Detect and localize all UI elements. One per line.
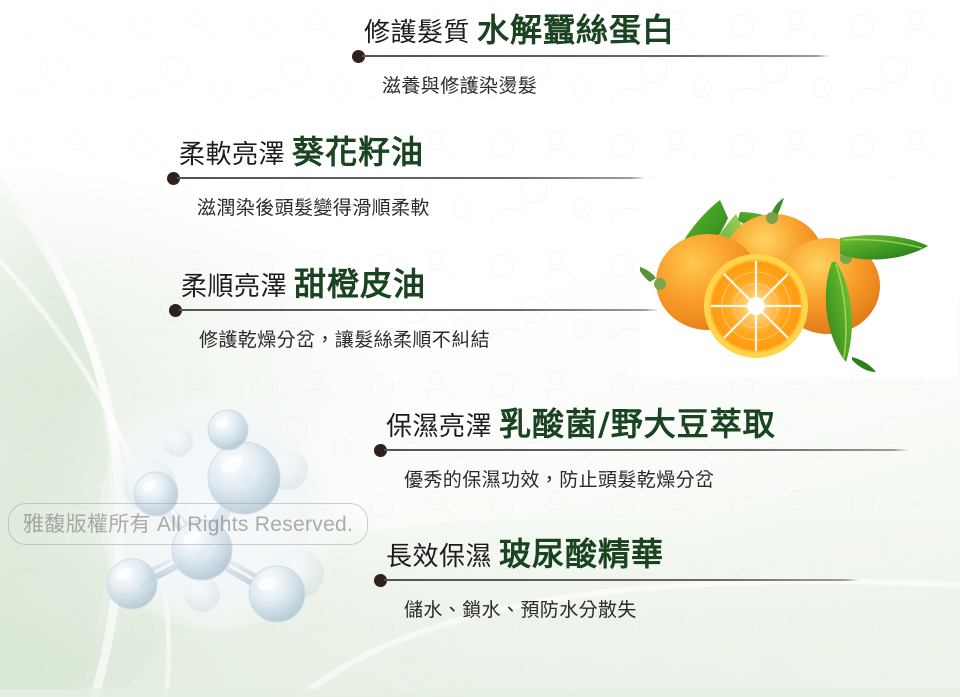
divider-line [384, 579, 859, 581]
feature-item: 柔軟亮澤葵花籽油 滋潤染後頭髮變得滑順柔軟 [167, 136, 727, 220]
feature-lead: 柔順亮澤 [181, 272, 287, 302]
feature-name: 玻尿酸精華 [499, 535, 664, 573]
copyright-watermark: 雅馥版權所有 All Rights Reserved. [8, 503, 368, 545]
feature-rule [169, 302, 729, 318]
feature-lead: 長效保濕 [386, 542, 492, 572]
feature-rule [352, 48, 912, 64]
feature-name: 葵花籽油 [292, 133, 424, 171]
feature-name: 水解蠶絲蛋白 [477, 11, 675, 49]
feature-headline: 修護髮質水解蠶絲蛋白 [364, 14, 912, 48]
feature-lead: 保濕亮澤 [386, 412, 492, 442]
feature-name: 甜橙皮油 [294, 265, 426, 303]
feature-description: 滋養與修護染燙髮 [382, 71, 912, 98]
feature-rule [374, 572, 934, 588]
feature-item: 保濕亮澤乳酸菌/野大豆萃取 優秀的保濕功效，防止頭髮乾燥分岔 [374, 408, 934, 492]
feature-item: 修護髮質水解蠶絲蛋白 滋養與修護染燙髮 [352, 14, 912, 98]
feature-lead: 柔軟亮澤 [179, 140, 285, 170]
feature-headline: 柔順亮澤甜橙皮油 [181, 268, 729, 302]
divider-line [384, 449, 909, 451]
feature-item: 長效保濕玻尿酸精華 儲水、鎖水、預防水分散失 [374, 538, 934, 622]
feature-rule [167, 170, 727, 186]
feature-item: 柔順亮澤甜橙皮油 修護乾燥分岔，讓髮絲柔順不糾結 [169, 268, 729, 352]
feature-description: 儲水、鎖水、預防水分散失 [404, 595, 934, 622]
feature-headline: 保濕亮澤乳酸菌/野大豆萃取 [386, 408, 934, 442]
feature-headline: 柔軟亮澤葵花籽油 [179, 136, 727, 170]
feature-description: 優秀的保濕功效，防止頭髮乾燥分岔 [404, 465, 934, 492]
feature-description: 修護乾燥分岔，讓髮絲柔順不糾結 [199, 325, 729, 352]
feature-name: 乳酸菌/野大豆萃取 [499, 405, 776, 443]
feature-description: 滋潤染後頭髮變得滑順柔軟 [197, 193, 727, 220]
feature-lead: 修護髮質 [364, 18, 470, 48]
divider-line [177, 177, 645, 179]
feature-headline: 長效保濕玻尿酸精華 [386, 538, 934, 572]
divider-line [362, 55, 830, 57]
divider-line [179, 309, 659, 311]
feature-rule [374, 442, 934, 458]
poster-canvas: 修護髮質水解蠶絲蛋白 滋養與修護染燙髮 柔軟亮澤葵花籽油 滋潤染後頭髮變得滑順柔… [0, 0, 960, 697]
